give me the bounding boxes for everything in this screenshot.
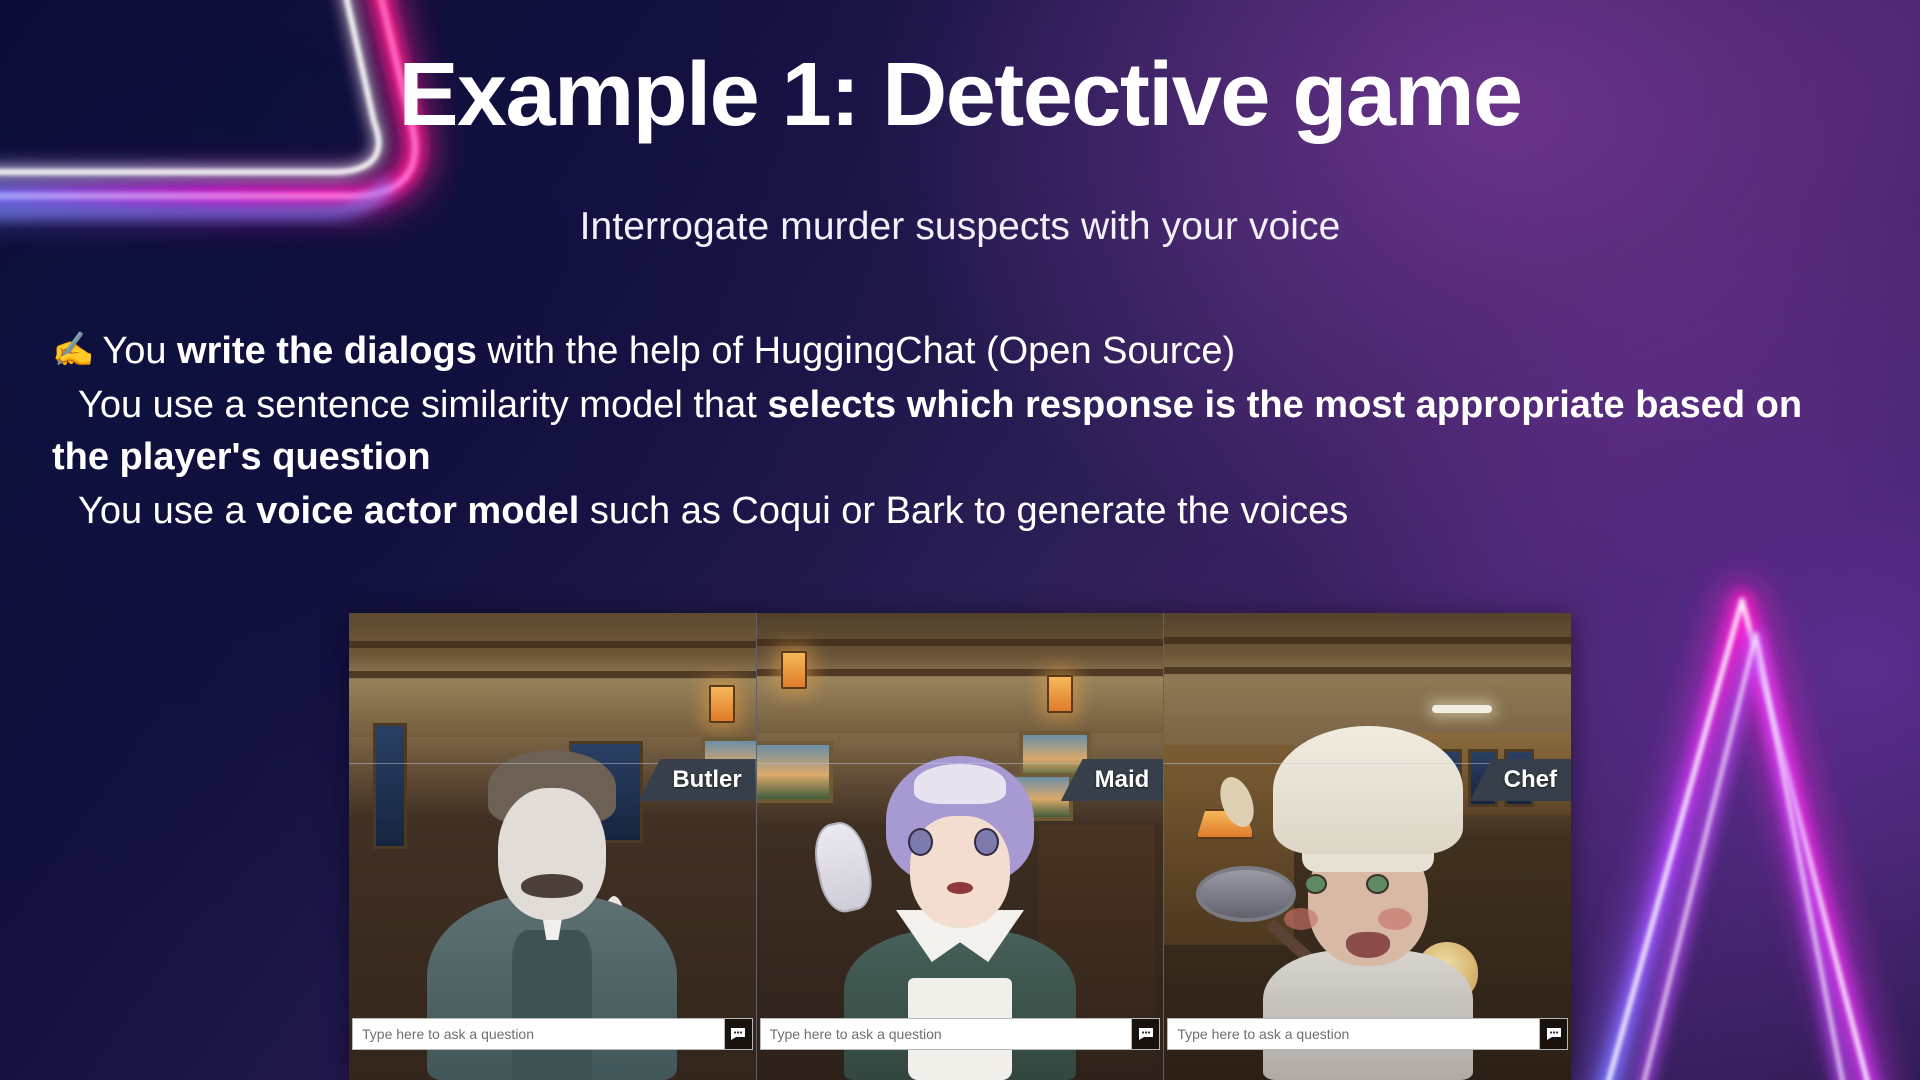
- lamp-icon: [709, 685, 735, 723]
- ceiling-beam: [1164, 637, 1571, 644]
- ceiling-beam: [349, 671, 756, 678]
- chat-bubble-icon[interactable]: [1540, 1018, 1568, 1050]
- bullet-item: ✍You write the dialogs with the help of …: [52, 325, 1867, 377]
- bullet-text-bold: voice actor model: [256, 490, 579, 532]
- game-screenshot: Butler Type here to ask a question: [349, 613, 1571, 1080]
- question-input-row-butler: Type here to ask a question: [349, 1018, 756, 1050]
- chat-bubble-icon[interactable]: [725, 1018, 753, 1050]
- character-panel-maid[interactable]: Maid Type here to ask a question: [757, 613, 1165, 1080]
- slide-subtitle: Interrogate murder suspects with your vo…: [0, 205, 1920, 249]
- bullet-text-plain: You use a: [78, 490, 256, 532]
- writing-hand-icon: ✍: [52, 327, 94, 374]
- bullet-list: ✍You write the dialogs with the help of …: [52, 325, 1867, 539]
- ceiling-beam: [757, 639, 1164, 646]
- bullet-item: You use a voice actor model such as Coqu…: [52, 485, 1867, 537]
- ceiling-beam: [349, 641, 756, 648]
- bullet-text-plain: such as Coqui or Bark to generate the vo…: [579, 490, 1348, 532]
- question-input-row-maid: Type here to ask a question: [757, 1018, 1164, 1050]
- character-panel-chef[interactable]: Chef Type here to ask a question: [1164, 613, 1571, 1080]
- bullet-text-plain: You: [102, 330, 177, 372]
- bullet-item: You use a sentence similarity model that…: [52, 379, 1867, 483]
- bullet-text-plain: with the help of HuggingChat (Open Sourc…: [477, 330, 1235, 372]
- question-input-chef[interactable]: Type here to ask a question: [1167, 1018, 1540, 1050]
- slide-root: Example 1: Detective game Interrogate mu…: [0, 0, 1920, 1080]
- ceiling-beam: [1164, 667, 1571, 674]
- question-input-butler[interactable]: Type here to ask a question: [352, 1018, 725, 1050]
- neon-chevron-right: [1595, 600, 1880, 1080]
- question-input-row-chef: Type here to ask a question: [1164, 1018, 1571, 1050]
- character-panel-butler[interactable]: Butler Type here to ask a question: [349, 613, 757, 1080]
- ceiling-beam: [757, 669, 1164, 676]
- lamp-icon: [781, 651, 807, 689]
- bullet-text-plain: You use a sentence similarity model that: [78, 384, 767, 426]
- wall-picture: [757, 741, 833, 803]
- character-panels: Butler Type here to ask a question: [349, 613, 1571, 1080]
- slide-title: Example 1: Detective game: [0, 48, 1920, 143]
- chat-bubble-icon[interactable]: [1132, 1018, 1160, 1050]
- question-input-maid[interactable]: Type here to ask a question: [760, 1018, 1133, 1050]
- bullet-text-bold: write the dialogs: [177, 330, 477, 372]
